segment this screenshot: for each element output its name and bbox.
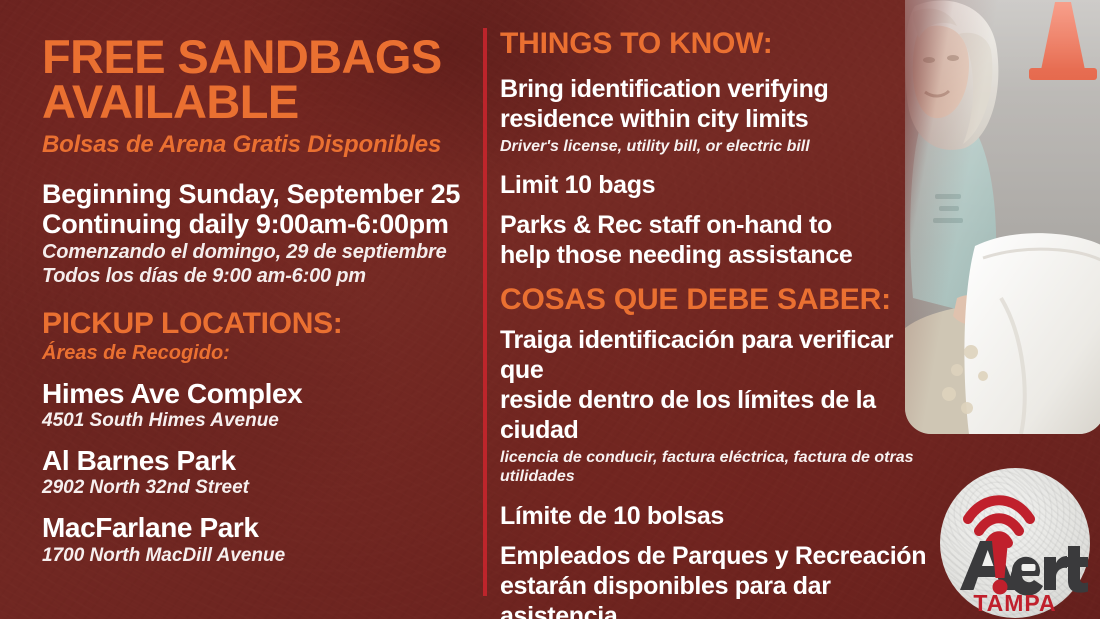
headline-spanish: Bolsas de Arena Gratis Disponibles (42, 132, 472, 158)
logo-letters-ert (1010, 546, 1088, 596)
spacer (42, 159, 472, 179)
cosas-que-debe-saber-heading: COSAS QUE DEBE SABER: (500, 284, 930, 316)
spacer (500, 315, 930, 325)
location-name: MacFarlane Park (42, 513, 472, 542)
item-line-1: Parks & Rec staff on-hand to (500, 210, 930, 240)
location-name: Al Barnes Park (42, 446, 472, 475)
spacer (42, 499, 472, 513)
things-to-know-item-3: Parks & Rec staff on-hand to help those … (500, 210, 930, 270)
logo-tampa-text: TAMPA (973, 590, 1056, 616)
item-line-1: Bring identification verifying (500, 74, 930, 104)
poster-root: FREE SANDBAGS AVAILABLE Bolsas de Arena … (0, 0, 1100, 619)
location-address: 2902 North 32nd Street (42, 477, 472, 499)
things-to-know-heading: THINGS TO KNOW: (500, 28, 930, 60)
item-line-1: Traiga identificación para verificar que (500, 325, 930, 385)
cosas-item-1: Traiga identificación para verificar que… (500, 325, 930, 486)
things-to-know-item-2: Limit 10 bags (500, 170, 930, 200)
schedule-es-line-1: Comenzando el domingo, 29 de septiembre (42, 240, 472, 264)
item-note: Driver's license, utility bill, or elect… (500, 137, 930, 156)
item-line-2: residence within city limits (500, 104, 930, 134)
things-to-know-item-1: Bring identification verifying residence… (500, 74, 930, 156)
location-address: 4501 South Himes Avenue (42, 410, 472, 432)
location-item: MacFarlane Park 1700 North MacDill Avenu… (42, 513, 472, 566)
item-line-2: reside dentro de los límites de la ciuda… (500, 385, 930, 445)
spacer (500, 60, 930, 74)
location-name: Himes Ave Complex (42, 379, 472, 408)
item-line-1: Limit 10 bags (500, 170, 930, 200)
spacer (500, 200, 930, 210)
column-divider (483, 28, 487, 596)
location-item: Al Barnes Park 2902 North 32nd Street (42, 446, 472, 499)
photo-illustration (905, 0, 1100, 434)
item-line-2: help those needing assistance (500, 240, 930, 270)
spacer (42, 365, 472, 379)
left-column: FREE SANDBAGS AVAILABLE Bolsas de Arena … (42, 34, 472, 566)
schedule-en-line-1: Beginning Sunday, September 25 (42, 179, 472, 210)
pickup-locations-heading-es: Áreas de Recogido: (42, 342, 472, 365)
schedule-en-line-2: Continuing daily 9:00am-6:00pm (42, 209, 472, 240)
logo-artwork: TAMPA (940, 468, 1090, 618)
spacer (500, 270, 930, 284)
item-line-1: Empleados de Parques y Recreación (500, 541, 930, 571)
headline-line-2: AVAILABLE (42, 75, 299, 128)
sandbag-photo (905, 0, 1100, 434)
spacer (500, 487, 930, 501)
right-column: THINGS TO KNOW: Bring identification ver… (500, 28, 930, 619)
pickup-locations-heading: PICKUP LOCATIONS: (42, 308, 472, 340)
location-address: 1700 North MacDill Avenue (42, 545, 472, 567)
cosas-item-2: Límite de 10 bolsas (500, 501, 930, 531)
alert-tampa-logo[interactable]: TAMPA (940, 468, 1090, 618)
signal-wave-icon (968, 500, 1030, 543)
page-title: FREE SANDBAGS AVAILABLE (42, 34, 472, 124)
spacer (42, 432, 472, 446)
item-line-2: estarán disponibles para dar asistencia (500, 571, 930, 619)
location-item: Himes Ave Complex 4501 South Himes Avenu… (42, 379, 472, 432)
spacer (42, 288, 472, 308)
spacer (500, 156, 930, 170)
logo-letter-a (960, 541, 1016, 590)
item-note: licencia de conducir, factura eléctrica,… (500, 448, 930, 486)
item-line-1: Límite de 10 bolsas (500, 501, 930, 531)
spacer (500, 531, 930, 541)
schedule-es-line-2: Todos los días de 9:00 am-6:00 pm (42, 264, 472, 288)
cosas-item-3: Empleados de Parques y Recreación estará… (500, 541, 930, 619)
